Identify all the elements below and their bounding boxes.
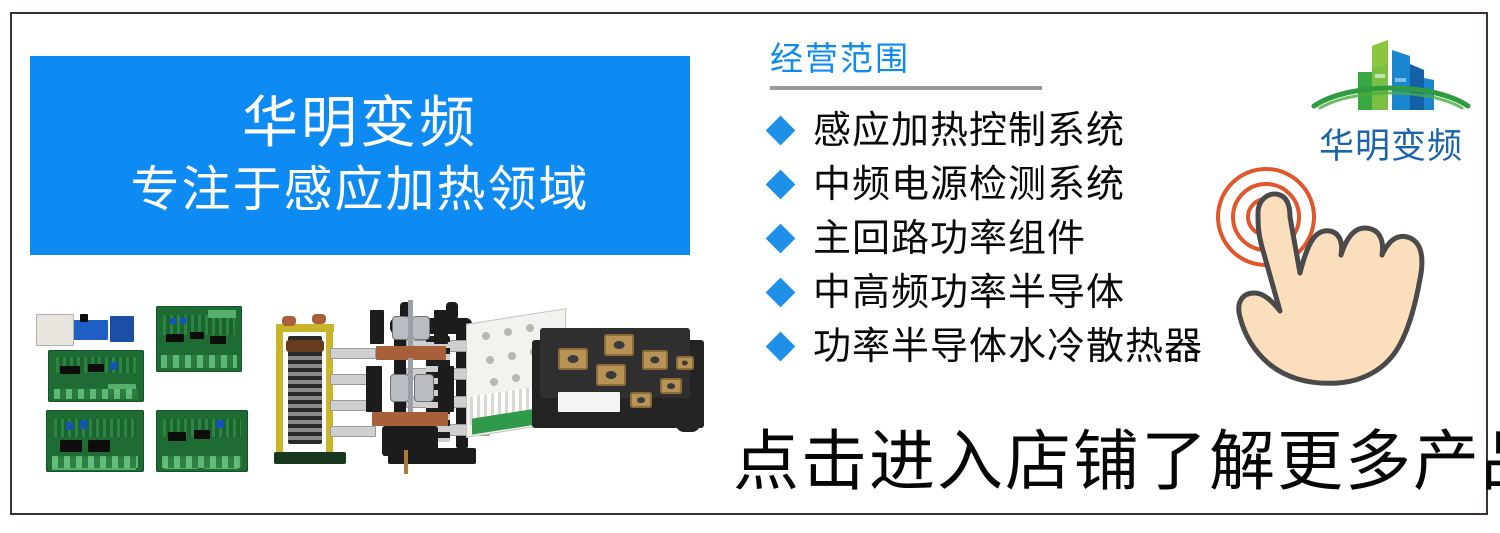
scope-list-item: 感应加热控制系统	[770, 104, 1290, 158]
diamond-bullet-icon	[766, 224, 796, 254]
scope-item-label: 主回路功率组件	[813, 220, 1086, 258]
brand-headline: 华明变频	[242, 90, 478, 156]
banner-advertisement: 华明变频 专注于感应加热领域	[0, 0, 1500, 533]
tap-hand-icon[interactable]	[1196, 155, 1468, 407]
diamond-bullet-icon	[766, 278, 796, 308]
scope-item-label: 功率半导体水冷散热器	[813, 328, 1203, 366]
building-skyline-icon	[1306, 34, 1476, 118]
cta-text[interactable]: 点击进入店铺了解更多产品	[733, 428, 1500, 494]
product-driver-pcb-board	[48, 350, 144, 402]
product-control-pcb-board	[156, 306, 242, 372]
scope-item-label: 中频电源检测系统	[813, 166, 1125, 204]
headline-panel: 华明变频 专注于感应加热领域	[30, 56, 690, 255]
scope-item-label: 中高频功率半导体	[813, 274, 1125, 312]
scope-title: 经营范围	[770, 40, 1290, 78]
diamond-bullet-icon	[766, 170, 796, 200]
product-pcb-board-4	[156, 410, 248, 472]
product-pcb-board-3	[46, 410, 144, 472]
company-logo: 华明变频	[1306, 34, 1476, 168]
product-igbt-power-module	[530, 312, 710, 452]
product-relay-module	[36, 312, 136, 346]
scope-item-label: 感应加热控制系统	[813, 112, 1125, 150]
diamond-bullet-icon	[766, 116, 796, 146]
tagline-headline: 专注于感应加热领域	[130, 160, 589, 221]
diamond-bullet-icon	[766, 332, 796, 362]
scope-divider	[770, 86, 1042, 90]
